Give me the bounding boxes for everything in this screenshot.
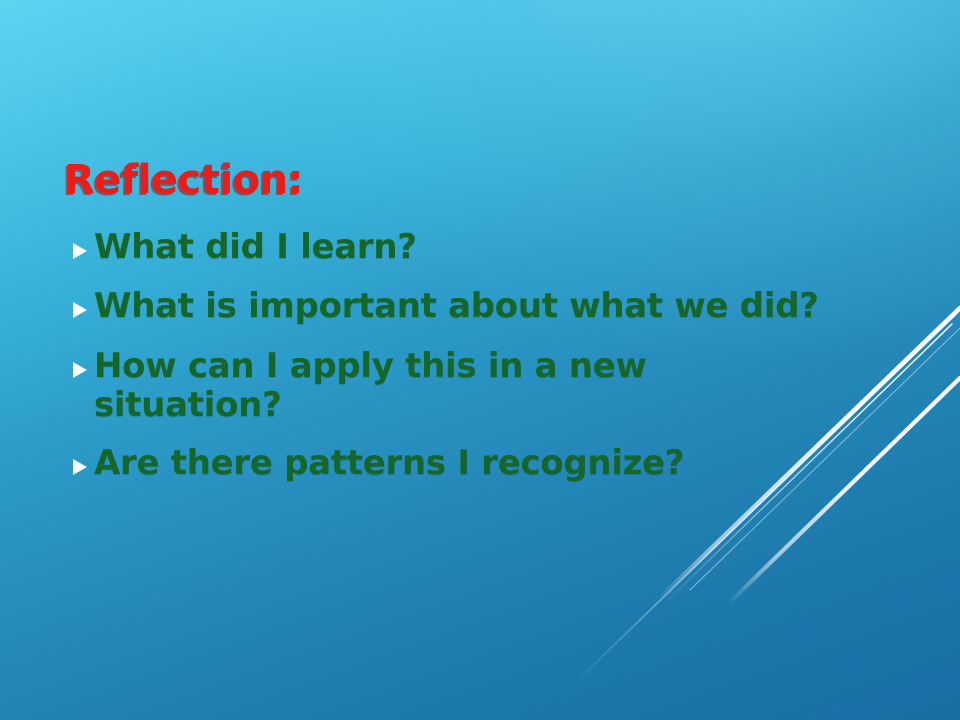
bullet-list: What did I learn? What is important abou… [70,228,900,483]
triangle-right-bullet-icon [70,457,92,477]
slide-content: Reflection: What did I learn? What is im… [0,0,960,720]
list-item[interactable]: What is important about what we did? [70,287,900,326]
presentation-slide: Reflection: What did I learn? What is im… [0,0,960,720]
list-item-label: What is important about what we did? [94,287,900,326]
slide-title: Reflection: [64,157,303,203]
list-item[interactable]: How can I apply this in a new situation? [70,347,900,426]
list-item-label: Are there patterns I recognize? [94,444,900,483]
triangle-right-bullet-icon [70,360,92,380]
triangle-right-bullet-icon [70,241,92,261]
list-item[interactable]: What did I learn? [70,228,900,267]
triangle-right-bullet-icon [70,300,92,320]
list-item-label: What did I learn? [94,228,900,267]
list-item-label: How can I apply this in a new situation? [94,347,734,426]
list-item[interactable]: Are there patterns I recognize? [70,444,900,483]
